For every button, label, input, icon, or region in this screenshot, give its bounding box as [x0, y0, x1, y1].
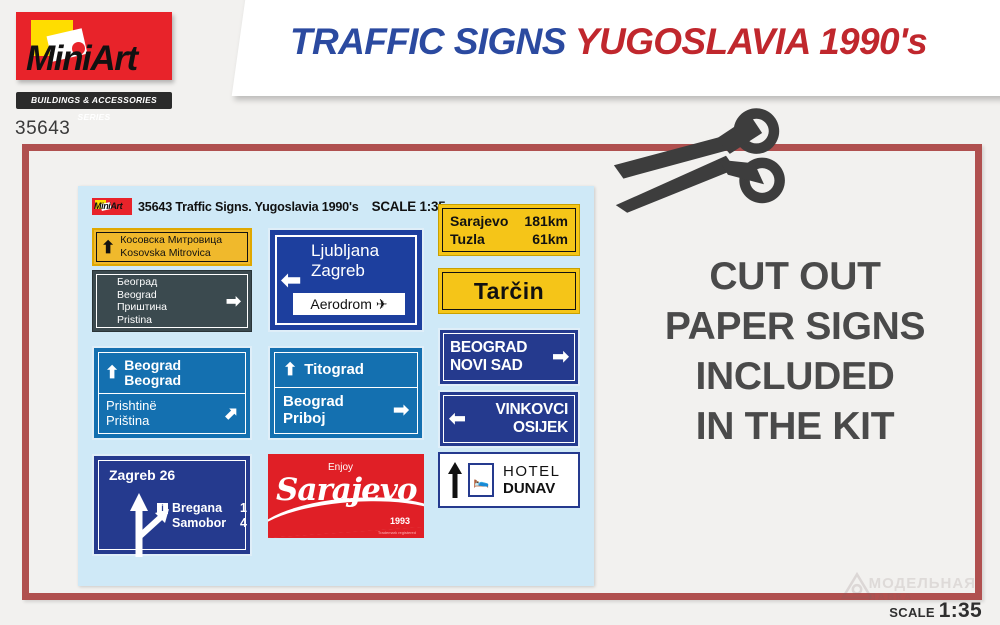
- logo-wordmark: MiniArt: [26, 39, 137, 79]
- sign-line-cyrillic: Косовска Митровица: [120, 234, 222, 247]
- info-icon: i: [157, 503, 168, 514]
- sheet-miniart-logo: MiniArt: [92, 198, 132, 215]
- sign-inner: Ljubljana Zagreb ⬅ Aerodrom ✈: [275, 235, 417, 325]
- sign-line-hotel: HOTEL: [503, 463, 561, 480]
- sign-enjoy-sarajevo-cola: Enjoy Sarajevo 1993 Trademark registered: [268, 454, 424, 538]
- sign-line-1: Beograd: [124, 358, 181, 373]
- sign-hotel-dunav: 🛌 HOTEL DUNAV: [438, 452, 580, 508]
- sheet-scale: SCALE 1:35: [372, 199, 446, 214]
- sign-line-1: Beograd: [283, 393, 344, 410]
- sign-sarajevo-tuzla-distance: Sarajevo 181km Tuzla 61km: [438, 204, 580, 256]
- sign-beograd-novi-sad: BEOGRAD NOVI SAD ➡: [438, 328, 580, 386]
- sign-inner: Sarajevo 181km Tuzla 61km: [442, 208, 576, 252]
- sign-inner: 🛌 HOTEL DUNAV: [443, 457, 575, 503]
- kit-number: 35643: [15, 118, 70, 140]
- aerodrom-plate: Aerodrom ✈: [293, 293, 405, 315]
- sign-line-2: Beograd: [117, 289, 167, 302]
- arrow-up-icon: ⬆: [105, 364, 119, 381]
- sign-cities: Ljubljana Zagreb: [311, 241, 379, 281]
- sign-line-3: Приштина: [117, 301, 167, 314]
- sign-inner: ⬅ VINKOVCI OSIJEK: [443, 395, 575, 443]
- cut-out-callout: CUT OUT PAPER SIGNS INCLUDED IN THE KIT: [608, 252, 982, 452]
- scale-label: SCALE: [889, 605, 935, 620]
- decal-sheet-header: MiniArt 35643 Traffic Signs. Yugoslavia …: [92, 198, 446, 215]
- sign-line-1: VINKOVCI: [495, 401, 568, 419]
- arrow-right-icon: ➡: [226, 292, 241, 310]
- sign-line-titograd: Titograd: [304, 361, 364, 378]
- destination-name: Bregana: [172, 501, 238, 516]
- arrow-right-icon: ➡: [552, 347, 569, 367]
- sign-text: VINKOVCI OSIJEK: [495, 401, 568, 437]
- arrow-left-icon: ⬅: [449, 409, 466, 429]
- sign-text: Beograd Priboj: [283, 393, 344, 427]
- sign-line-2: NOVI SAD: [450, 357, 527, 375]
- footer-scale: SCALE 1:35: [889, 599, 982, 623]
- sign-inner: Zagreb 26 i Bregana 1 Samobor 4: [98, 460, 246, 550]
- sign-kosovska-mitrovica: ⬆ Косовска Митровица Kosovska Mitrovica: [92, 228, 252, 266]
- decal-sheet: MiniArt 35643 Traffic Signs. Yugoslavia …: [78, 186, 594, 586]
- sign-line-latin: Kosovska Mitrovica: [120, 247, 222, 260]
- sign-panel-bottom: Prishtinë Priština ➡: [99, 394, 245, 434]
- sign-vinkovci-osijek: ⬅ VINKOVCI OSIJEK: [438, 390, 580, 448]
- sign-line-1: BEOGRAD: [450, 339, 527, 357]
- title-part-yugoslavia: YUGOSLAVIA 1990's: [575, 21, 927, 62]
- destination-list: i Bregana 1 Samobor 4: [157, 501, 247, 531]
- sign-zagreb-bregana-samobor: Zagreb 26 i Bregana 1 Samobor 4: [92, 454, 252, 556]
- callout-line-2: PAPER SIGNS: [608, 302, 982, 352]
- distance-row: Tuzla 61km: [450, 230, 568, 248]
- sign-inner: ⬆ Titograd Beograd Priboj ➡: [274, 352, 418, 434]
- callout-line-3: INCLUDED: [608, 352, 982, 402]
- distance-row: Sarajevo 181km: [450, 212, 568, 230]
- sign-line-ljubljana: Ljubljana: [311, 241, 379, 261]
- sign-panel-top: ⬆ Titograd: [275, 353, 417, 388]
- sign-beograd-pristina-green: Београд Beograd Приштина Pristina ➡: [92, 270, 252, 332]
- arrow-up-icon: [447, 462, 463, 498]
- series-label: BUILDINGS & ACCESSORIES SERIES: [16, 92, 172, 109]
- city-name: Tuzla: [450, 230, 485, 248]
- callout-line-4: IN THE KIT: [608, 402, 982, 452]
- aerodrom-label: Aerodrom: [310, 296, 371, 312]
- city-distance: 181km: [524, 212, 568, 230]
- sign-text: HOTEL DUNAV: [499, 463, 561, 497]
- bed-icon: 🛌: [468, 463, 494, 497]
- sign-inner: ⬆ Косовска Митровица Kosovska Mitrovica: [96, 232, 248, 262]
- arrow-up-icon: ⬆: [101, 239, 115, 256]
- scale-value: 1:35: [939, 599, 982, 622]
- sheet-title: 35643 Traffic Signs. Yugoslavia 1990's: [138, 200, 359, 214]
- sign-inner: ⬆ Beograd Beograd Prishtinë Priština ➡: [98, 352, 246, 434]
- destination-distance: 4: [240, 516, 247, 531]
- sign-text: Beograd Beograd: [124, 358, 181, 388]
- scissors-icon: [612, 106, 802, 216]
- sign-tarcin: Tarčin: [438, 268, 580, 314]
- destination-name: Samobor: [172, 516, 238, 531]
- sign-line-zagreb: Zagreb: [311, 261, 379, 281]
- sign-line-1: Београд: [117, 276, 167, 289]
- sign-inner: Tarčin: [442, 272, 576, 310]
- sheet-logo-wordmark: MiniArt: [94, 201, 122, 211]
- sign-inner: Београд Beograd Приштина Pristina ➡: [96, 274, 248, 328]
- destination-row: i Bregana 1: [157, 501, 247, 516]
- sign-text: Prishtinë Priština: [106, 398, 157, 428]
- sign-titograd-beograd-priboj: ⬆ Titograd Beograd Priboj ➡: [268, 346, 424, 440]
- arrow-up-icon: ⬆: [283, 361, 297, 378]
- miniart-logo: MiniArt: [16, 12, 172, 80]
- sign-text: Косовска Митровица Kosovska Mitrovica: [115, 234, 222, 260]
- arrow-left-icon: ⬅: [281, 269, 301, 293]
- title-part-traffic-signs: TRAFFIC SIGNS: [290, 21, 575, 62]
- sign-text: Београд Beograd Приштина Pristina: [117, 276, 167, 326]
- airplane-icon: ✈: [376, 296, 388, 313]
- sign-line-4: Pristina: [117, 314, 167, 327]
- page-header: MiniArt BUILDINGS & ACCESSORIES SERIES 3…: [0, 0, 1000, 96]
- sign-inner: BEOGRAD NOVI SAD ➡: [443, 333, 575, 381]
- sign-line-2: Beograd: [124, 373, 181, 388]
- sign-line-2: Priština: [106, 413, 157, 428]
- sign-line-2: OSIJEK: [495, 419, 568, 437]
- cola-fine-print: Trademark registered: [378, 530, 416, 535]
- city-name: Sarajevo: [450, 212, 508, 230]
- sign-line-2: Priboj: [283, 410, 344, 427]
- destination-distance: 1: [240, 501, 247, 516]
- sign-ljubljana-zagreb: Ljubljana Zagreb ⬅ Aerodrom ✈: [268, 228, 424, 332]
- arrow-up-right-icon: ➡: [220, 402, 242, 424]
- sign-line-dunav: DUNAV: [503, 480, 561, 497]
- sign-panel-bottom: Beograd Priboj ➡: [275, 388, 417, 433]
- sign-text: BEOGRAD NOVI SAD: [450, 339, 527, 375]
- callout-line-1: CUT OUT: [608, 252, 982, 302]
- destination-row: Samobor 4: [157, 516, 247, 531]
- sign-beograd-prishtine: ⬆ Beograd Beograd Prishtinë Priština ➡: [92, 346, 252, 440]
- arrow-right-icon: ➡: [393, 401, 409, 420]
- sign-line-1: Prishtinë: [106, 398, 157, 413]
- page-title: TRAFFIC SIGNS YUGOSLAVIA 1990's: [290, 16, 990, 68]
- city-distance: 61km: [532, 230, 568, 248]
- cola-year: 1993: [390, 516, 410, 526]
- sign-panel-top: ⬆ Beograd Beograd: [99, 353, 245, 394]
